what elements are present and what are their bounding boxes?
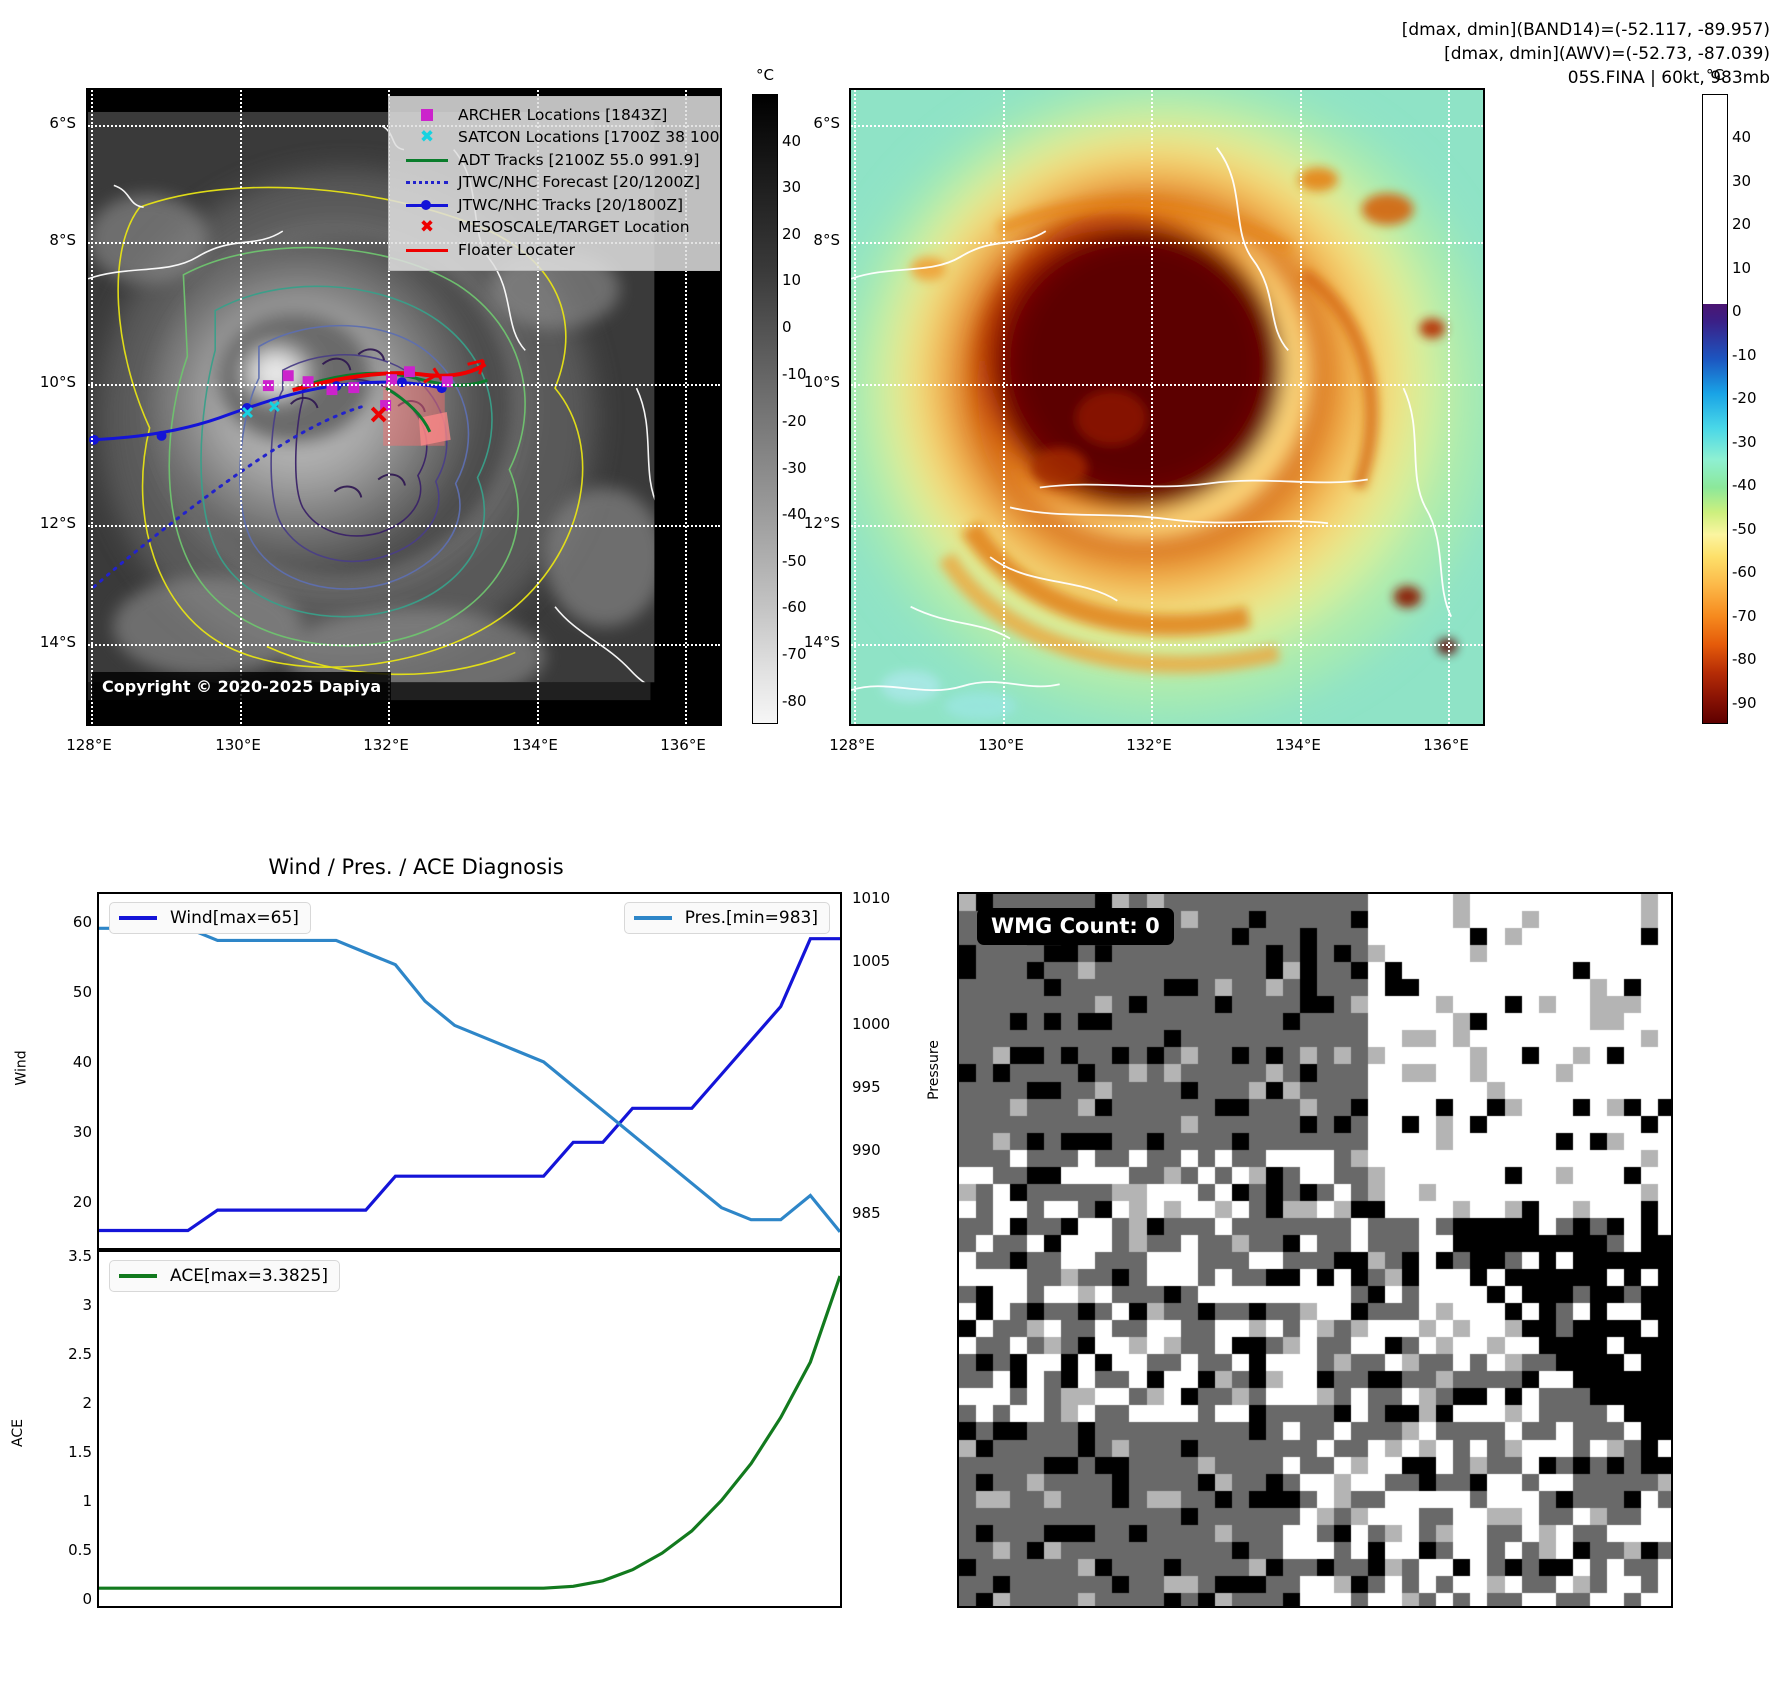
ytick: 995	[852, 1078, 881, 1096]
cbar-tick: -80	[1732, 650, 1757, 668]
ytick: 8°S	[813, 231, 840, 249]
xtick: 128°E	[829, 736, 875, 754]
dotted-line-icon	[398, 172, 456, 195]
ytick: 10°S	[40, 373, 76, 391]
line-with-marker-icon	[398, 194, 456, 217]
ytick: 40	[73, 1053, 92, 1071]
ace-series-line	[99, 1276, 840, 1588]
legend-label-archer: ARCHER Locations [1843Z]	[456, 108, 667, 124]
wind-axis-ticks: 60 50 40 30 20	[30, 892, 92, 1250]
legend-label-adt: ADT Tracks [2100Z 55.0 991.9]	[456, 153, 699, 169]
wind-pressure-svg	[99, 894, 840, 1248]
ytick: 0	[82, 1590, 92, 1608]
cbar-tick: 0	[1732, 302, 1742, 320]
bd-enhanced-imagery	[851, 90, 1483, 724]
cbar-tick: -60	[1732, 563, 1757, 581]
cbar-tick: -20	[1732, 389, 1757, 407]
pressure-legend-label: Pres.[min=983]	[685, 908, 818, 928]
solid-line-icon	[398, 149, 456, 172]
xtick: 136°E	[660, 736, 706, 754]
ytick: 990	[852, 1141, 881, 1159]
ir-satellite-map[interactable]: ARCHER Locations [1843Z] ✖ SATCON Locati…	[86, 88, 722, 726]
cbar-tick: -90	[1732, 694, 1757, 712]
ir-map-legend: ARCHER Locations [1843Z] ✖ SATCON Locati…	[388, 96, 722, 271]
legend-label-mesoscale: MESOSCALE/TARGET Location	[456, 220, 690, 236]
xtick: 136°E	[1423, 736, 1469, 754]
legend-row-archer: ARCHER Locations [1843Z]	[398, 104, 722, 127]
ytick: 1005	[852, 952, 890, 970]
legend-row-mesoscale: ✖ MESOSCALE/TARGET Location	[398, 217, 722, 240]
wmg-count-badge: WMG Count: 0	[977, 908, 1174, 945]
ytick: 0.5	[68, 1541, 92, 1559]
pressure-series-line	[99, 928, 840, 1232]
ace-svg	[99, 1252, 840, 1606]
x-marker-icon: ✖	[398, 217, 456, 240]
ytick: 2.5	[68, 1345, 92, 1363]
xtick: 128°E	[66, 736, 112, 754]
colorbar-gradient-bd	[1702, 94, 1728, 724]
bd-colorbar: °C 40 30 20 10 0 -10 -20 -30 -40 -50 -60…	[1702, 94, 1728, 724]
xtick: 130°E	[215, 736, 261, 754]
legend-row-jtwc-forecast: JTWC/NHC Forecast [20/1200Z]	[398, 172, 722, 195]
legend-label-satcon: SATCON Locations [1700Z 38 1000]	[456, 130, 722, 146]
cbar-tick: 20	[1732, 215, 1751, 233]
ir-map-ytick-labels: 6°S 8°S 10°S 12°S 14°S	[6, 88, 76, 726]
cbar-tick: -50	[1732, 520, 1757, 538]
ytick: 6°S	[49, 114, 76, 132]
solid-line-icon	[398, 239, 456, 262]
xtick: 132°E	[363, 736, 409, 754]
legend-row-satcon: ✖ SATCON Locations [1700Z 38 1000]	[398, 127, 722, 150]
ytick: 12°S	[40, 514, 76, 532]
wmg-classification-map[interactable]: WMG Count: 0	[957, 892, 1673, 1608]
ytick: 10°S	[804, 373, 840, 391]
stat-awv-range: [dmax, dmin](AWV)=(-52.73, -87.039)	[1402, 42, 1770, 66]
wmg-raster	[959, 894, 1673, 1608]
wind-series-line	[99, 939, 840, 1231]
cbar-tick: -70	[1732, 607, 1757, 625]
wind-pressure-chart[interactable]: Wind[max=65] Pres.[min=983]	[97, 892, 842, 1250]
ytick: 1010	[852, 889, 890, 907]
legend-row-jtwc-tracks: JTWC/NHC Tracks [20/1800Z]	[398, 194, 722, 217]
ytick: 8°S	[49, 231, 76, 249]
ytick: 20	[73, 1193, 92, 1211]
xtick: 132°E	[1126, 736, 1172, 754]
ytick: 60	[73, 913, 92, 931]
chart-title: Wind / Pres. / ACE Diagnosis	[86, 855, 746, 879]
dashboard-root: HIMAWARI-8 BAND14-DIAS TARGET AREA Time:…	[0, 0, 1792, 1690]
ytick: 1000	[852, 1015, 890, 1033]
legend-row-adt: ADT Tracks [2100Z 55.0 991.9]	[398, 149, 722, 172]
ytick: 30	[73, 1123, 92, 1141]
xtick: 134°E	[1275, 736, 1321, 754]
ace-chart[interactable]: ACE[max=3.3825]	[97, 1250, 842, 1608]
ace-plot-area	[99, 1252, 840, 1606]
xtick: 130°E	[978, 736, 1024, 754]
bd-map-ytick-labels: 6°S 8°S 10°S 12°S 14°S	[770, 88, 840, 726]
colorbar-unit-label: °C	[756, 66, 774, 84]
ir-map-xtick-labels: 128°E 130°E 132°E 134°E 136°E	[86, 736, 722, 758]
colorbar-unit-label: °C	[1706, 66, 1724, 84]
legend-label-floater: Floater Locater	[456, 243, 575, 259]
legend-label-jtwc-forecast: JTWC/NHC Forecast [20/1200Z]	[456, 175, 700, 191]
wind-axis-title: Wind	[14, 1050, 30, 1085]
bd-map-xtick-labels: 128°E 130°E 132°E 134°E 136°E	[849, 736, 1485, 758]
copyright-notice: Copyright © 2020-2025 Dapiya	[92, 672, 391, 702]
pressure-legend[interactable]: Pres.[min=983]	[624, 902, 830, 934]
cbar-tick: -30	[1732, 433, 1757, 451]
x-marker-icon: ✖	[398, 127, 456, 150]
bd-enhanced-map[interactable]	[849, 88, 1485, 726]
pressure-legend-swatch	[634, 916, 672, 920]
ytick: 985	[852, 1204, 881, 1222]
ytick: 14°S	[804, 633, 840, 651]
cbar-tick: -10	[1732, 346, 1757, 364]
legend-label-jtwc-tracks: JTWC/NHC Tracks [20/1800Z]	[456, 198, 683, 214]
ace-axis-ticks: 3.5 3 2.5 2 1.5 1 0.5 0	[30, 1250, 92, 1608]
ytick: 1	[82, 1492, 92, 1510]
wind-legend[interactable]: Wind[max=65]	[109, 902, 311, 934]
cbar-tick: 10	[1732, 259, 1751, 277]
ace-legend-label: ACE[max=3.3825]	[170, 1266, 328, 1286]
ace-axis-title: ACE	[10, 1419, 26, 1447]
ytick: 50	[73, 983, 92, 1001]
ytick: 6°S	[813, 114, 840, 132]
ace-legend-swatch	[119, 1274, 157, 1278]
wind-pressure-plot-area	[99, 894, 840, 1248]
ytick: 3	[82, 1296, 92, 1314]
pressure-axis-ticks: 1010 1005 1000 995 990 985	[852, 892, 932, 1250]
ace-legend[interactable]: ACE[max=3.3825]	[109, 1260, 340, 1292]
ytick: 3.5	[68, 1247, 92, 1265]
pressure-axis-title: Pressure	[926, 1040, 942, 1100]
bd-colorbar-ticks: 40 30 20 10 0 -10 -20 -30 -40 -50 -60 -7…	[1732, 94, 1792, 724]
ytick: 14°S	[40, 633, 76, 651]
ytick: 2	[82, 1394, 92, 1412]
cbar-tick: 40	[1732, 128, 1751, 146]
xtick: 134°E	[512, 736, 558, 754]
stat-band14-range: [dmax, dmin](BAND14)=(-52.117, -89.957)	[1402, 18, 1770, 42]
wind-legend-label: Wind[max=65]	[170, 908, 299, 928]
ytick: 1.5	[68, 1443, 92, 1461]
ytick: 12°S	[804, 514, 840, 532]
cbar-tick: 30	[1732, 172, 1751, 190]
square-marker-icon	[398, 104, 456, 127]
cbar-tick: -40	[1732, 476, 1757, 494]
wind-legend-swatch	[119, 916, 157, 920]
legend-row-floater: Floater Locater	[398, 239, 722, 262]
